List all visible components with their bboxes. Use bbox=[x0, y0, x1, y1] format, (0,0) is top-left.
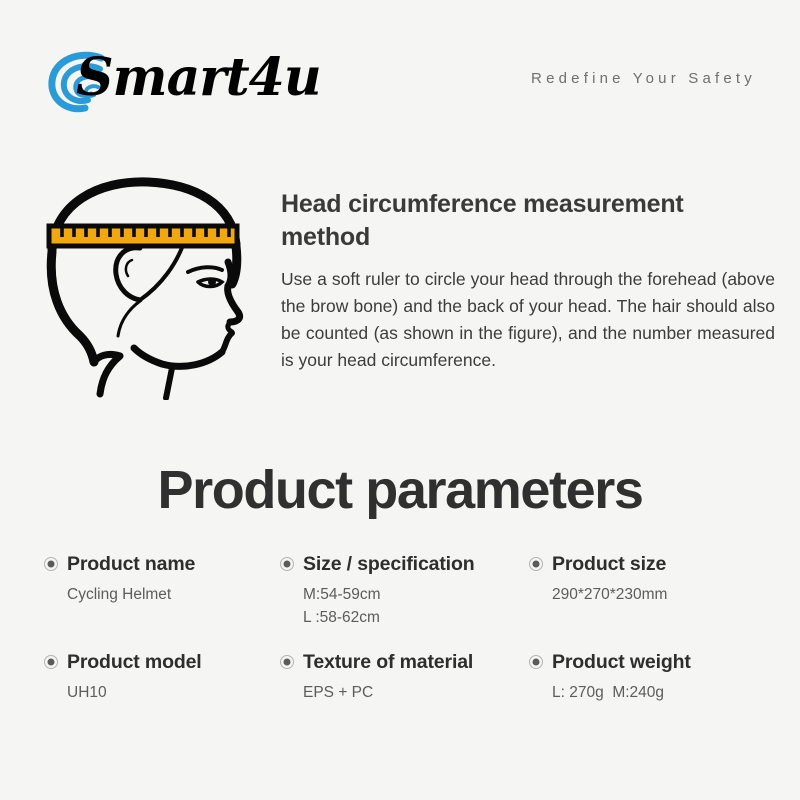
param-values: M:54-59cm L :58-62cm bbox=[303, 583, 530, 629]
param-item-product-weight: Product weight L: 270g M:240g bbox=[529, 650, 779, 704]
param-item-product-name: Product name Cycling Helmet bbox=[44, 552, 294, 606]
param-values: L: 270g M:240g bbox=[552, 681, 779, 704]
brand-logo[interactable]: Smart4u bbox=[44, 44, 344, 116]
param-value: L :58-62cm bbox=[303, 606, 530, 629]
param-values: Cycling Helmet bbox=[67, 583, 294, 606]
param-values: UH10 bbox=[67, 681, 294, 704]
head-profile-illustration bbox=[36, 160, 276, 400]
param-label: Product weight bbox=[552, 651, 691, 674]
param-header: Texture of material bbox=[280, 650, 530, 674]
page-header: Smart4u Redefine Your Safety bbox=[0, 0, 800, 135]
param-values: 290*270*230mm bbox=[552, 583, 779, 606]
param-item-texture-of-material: Texture of material EPS + PC bbox=[280, 650, 530, 704]
measurement-body: Use a soft ruler to circle your head thr… bbox=[281, 266, 775, 374]
param-label: Size / specification bbox=[303, 553, 474, 576]
param-value: UH10 bbox=[67, 681, 294, 704]
radio-dot-icon bbox=[529, 557, 543, 571]
param-item-product-model: Product model UH10 bbox=[44, 650, 294, 704]
measurement-section: Head circumference measurement method Us… bbox=[0, 150, 800, 420]
product-parameters-title: Product parameters bbox=[0, 458, 800, 522]
radio-dot-icon bbox=[529, 655, 543, 669]
param-value: M:54-59cm bbox=[303, 583, 530, 606]
param-header: Product model bbox=[44, 650, 294, 674]
param-value: 290*270*230mm bbox=[552, 583, 779, 606]
radio-dot-icon bbox=[44, 557, 58, 571]
brand-tagline: Redefine Your Safety bbox=[531, 70, 756, 87]
param-label: Product model bbox=[67, 651, 202, 674]
param-value: EPS + PC bbox=[303, 681, 530, 704]
measuring-tape bbox=[49, 226, 237, 246]
measurement-text-block: Head circumference measurement method Us… bbox=[281, 188, 779, 374]
measurement-title: Head circumference measurement method bbox=[281, 188, 779, 254]
param-label: Product name bbox=[67, 553, 195, 576]
param-header: Size / specification bbox=[280, 552, 530, 576]
param-label: Product size bbox=[552, 553, 666, 576]
param-label: Texture of material bbox=[303, 651, 473, 674]
param-item-product-size: Product size 290*270*230mm bbox=[529, 552, 779, 606]
radio-dot-icon bbox=[44, 655, 58, 669]
param-header: Product name bbox=[44, 552, 294, 576]
radio-dot-icon bbox=[280, 557, 294, 571]
param-item-size-specification: Size / specification M:54-59cm L :58-62c… bbox=[280, 552, 530, 629]
brand-logo-text: Smart4u bbox=[76, 46, 321, 110]
param-value: L: 270g M:240g bbox=[552, 681, 779, 704]
param-header: Product weight bbox=[529, 650, 779, 674]
product-parameters-grid: Product name Cycling Helmet Product mode… bbox=[0, 552, 800, 722]
param-header: Product size bbox=[529, 552, 779, 576]
param-value: Cycling Helmet bbox=[67, 583, 294, 606]
param-values: EPS + PC bbox=[303, 681, 530, 704]
radio-dot-icon bbox=[280, 655, 294, 669]
